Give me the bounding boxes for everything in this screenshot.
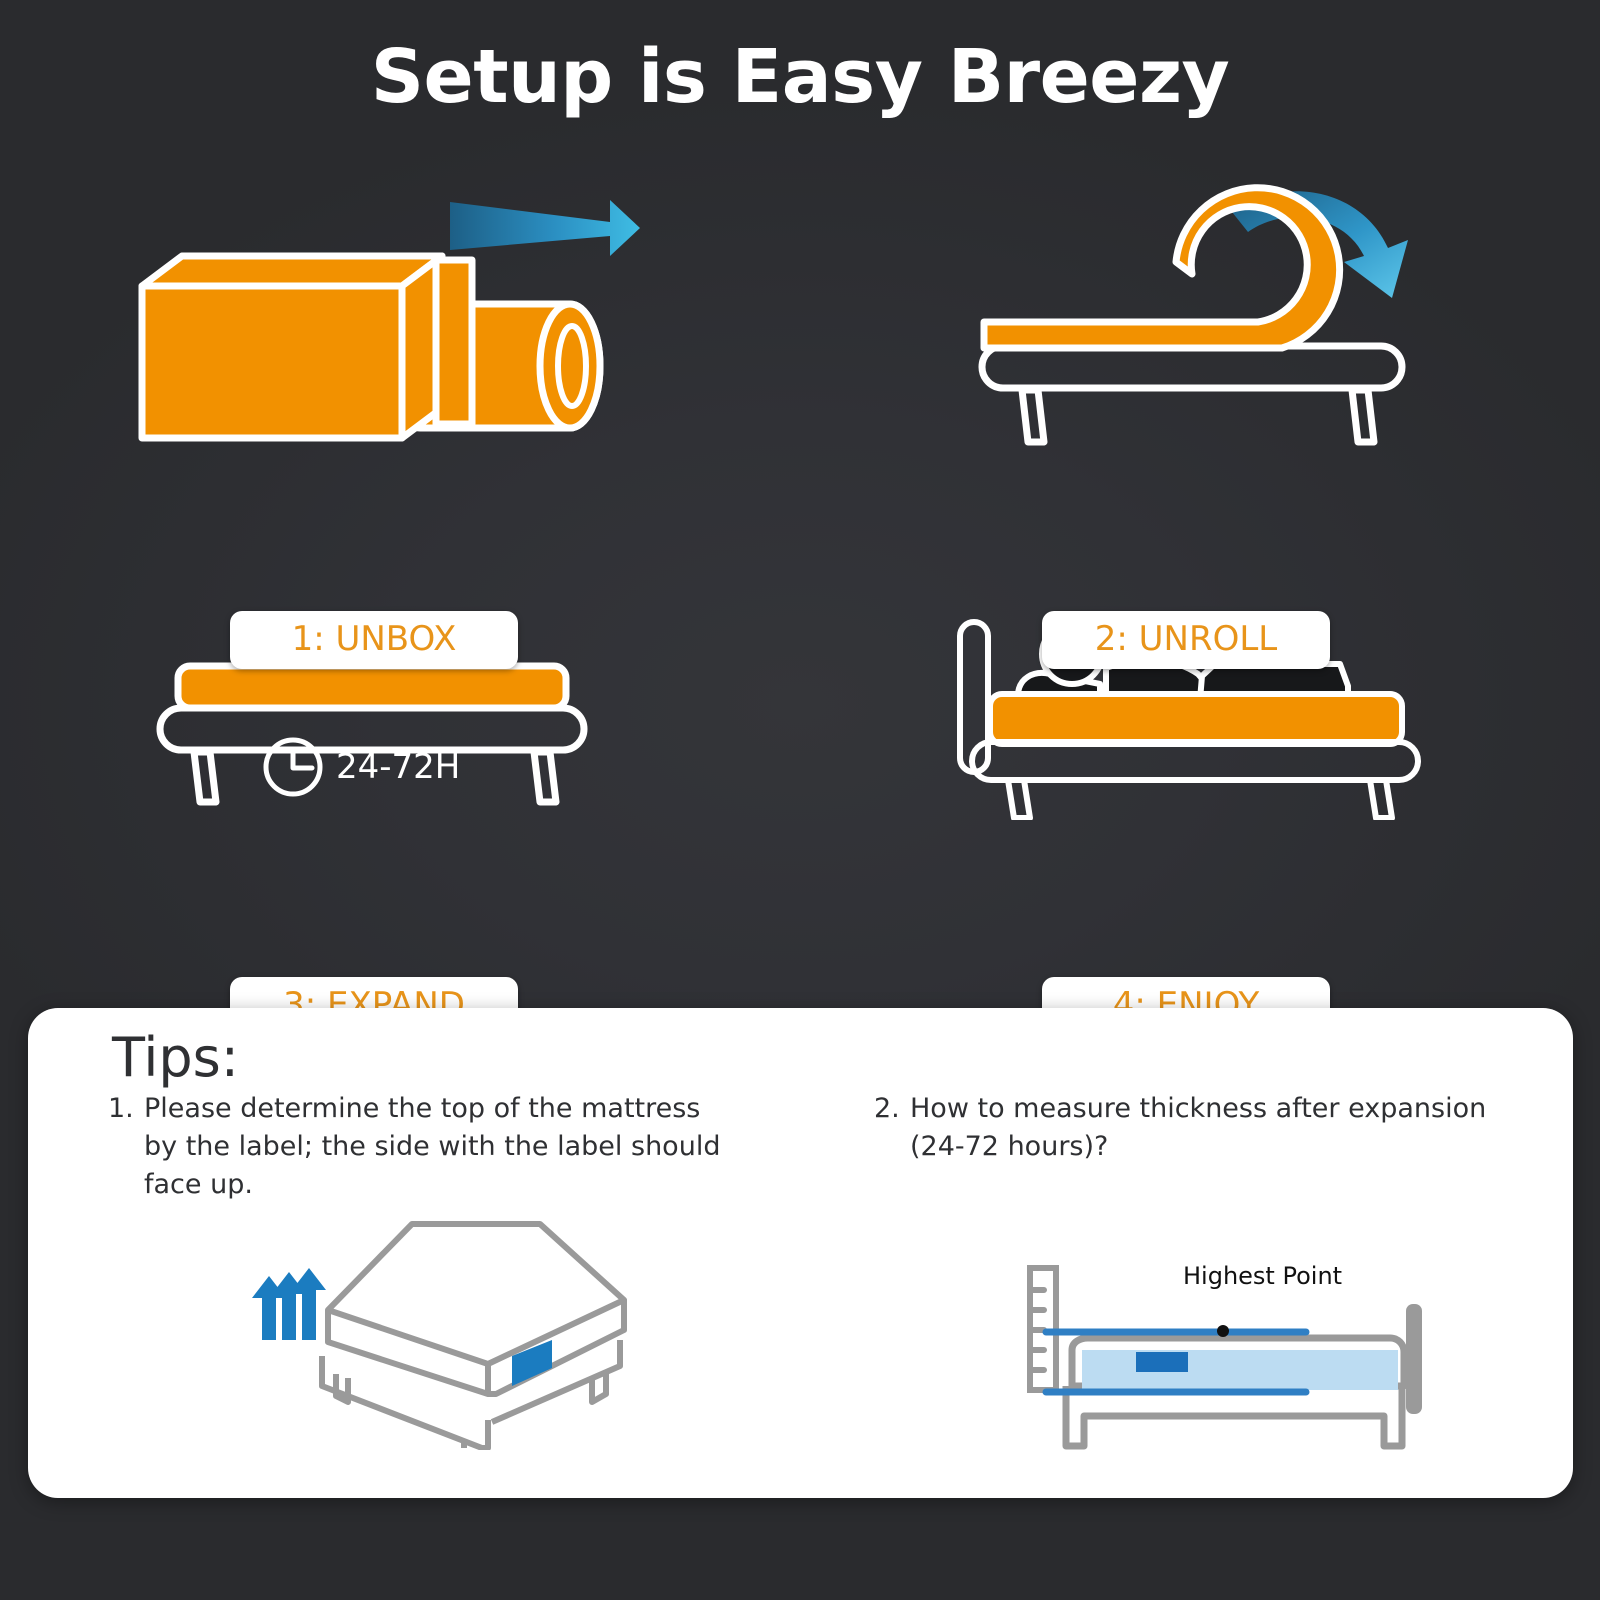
isometric-mattress-on-frame-icon bbox=[240, 1190, 660, 1450]
mattress-icon bbox=[990, 694, 1402, 744]
page-title: Setup is Easy Breezy bbox=[0, 34, 1600, 120]
box-opening-neck-icon bbox=[436, 260, 472, 424]
tips-heading: Tips: bbox=[112, 1026, 239, 1089]
step-1-unbox-illustration bbox=[120, 180, 680, 480]
tip-item-2: 2.How to measure thickness after expansi… bbox=[874, 1090, 1494, 1166]
step-2-unroll-illustration bbox=[940, 170, 1440, 460]
highest-point-dot-icon bbox=[1217, 1325, 1229, 1337]
steps-grid: 24-72H bbox=[0, 150, 1600, 970]
highest-point-label: Highest Point bbox=[1183, 1262, 1342, 1290]
bed-frame-icon bbox=[160, 708, 584, 802]
bed-frame-icon bbox=[982, 346, 1402, 442]
mattress-icon bbox=[1082, 1350, 1398, 1390]
tip-1-text: Please determine the top of the mattress… bbox=[144, 1090, 724, 1204]
flat-mattress-icon bbox=[178, 666, 566, 708]
mattress-isometric-icon bbox=[328, 1224, 624, 1394]
tips-card: Tips: 1.Please determine the top of the … bbox=[28, 1008, 1573, 1498]
infographic-page: Setup is Easy Breezy bbox=[0, 0, 1600, 1600]
bed-frame-icon bbox=[972, 742, 1418, 818]
three-up-arrows-icon bbox=[252, 1268, 326, 1340]
tip-2-text: How to measure thickness after expansion… bbox=[910, 1090, 1490, 1166]
straight-arrow-right-icon bbox=[450, 200, 640, 256]
tip-1-number: 1. bbox=[108, 1090, 144, 1128]
tip-2-number: 2. bbox=[874, 1090, 910, 1128]
tip-item-1: 1.Please determine the top of the mattre… bbox=[108, 1090, 748, 1204]
step-label-unbox[interactable]: 1: UNBOX bbox=[230, 611, 518, 669]
shipping-box-icon bbox=[142, 256, 442, 438]
step-3-expand-illustration bbox=[150, 646, 600, 826]
mattress-label-patch-icon bbox=[1136, 1352, 1188, 1372]
unrolling-mattress-icon bbox=[984, 188, 1340, 348]
step-label-unroll[interactable]: 2: UNROLL bbox=[1042, 611, 1330, 669]
